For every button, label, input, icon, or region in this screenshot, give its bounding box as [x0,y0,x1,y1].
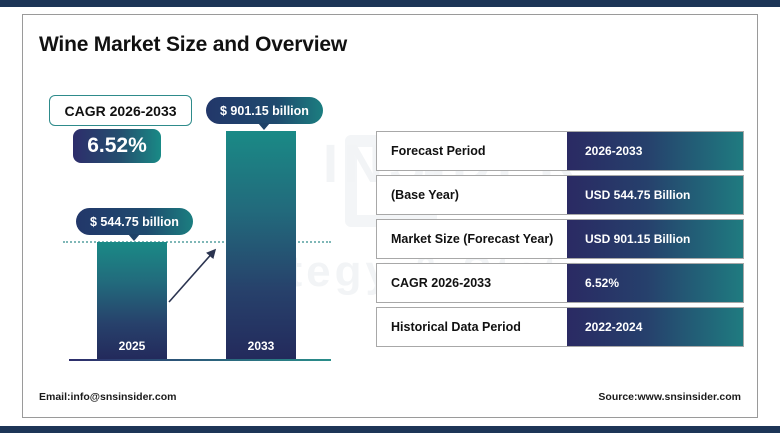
bar-2033: 2033 [226,131,296,359]
bar-chart: $ 901.15 billion $ 544.75 billion 2033 2… [23,15,383,419]
table-cell-label: CAGR 2026-2033 [377,264,567,302]
table-row: CAGR 2026-2033 6.52% [376,263,744,303]
top-accent-bar [0,0,780,7]
table-row: Forecast Period 2026-2033 [376,131,744,171]
bar-year-label-2025: 2025 [97,339,167,353]
table-cell-value: USD 544.75 Billion [567,176,743,214]
content-card: INSIDER ategy & Stats Wine Market Size a… [22,14,758,418]
value-callout-2025: $ 544.75 billion [76,208,193,235]
infographic-root: INSIDER ategy & Stats Wine Market Size a… [0,0,780,433]
table-cell-label: Historical Data Period [377,308,567,346]
growth-arrow-icon [163,240,229,310]
table-row: Historical Data Period 2022-2024 [376,307,744,347]
summary-table: Forecast Period 2026-2033 (Base Year) US… [376,131,744,351]
bottom-accent-bar [0,426,780,433]
table-cell-label: (Base Year) [377,176,567,214]
table-cell-value: USD 901.15 Billion [567,220,743,258]
bar-2025: 2025 [97,242,167,359]
table-cell-value: 6.52% [567,264,743,302]
table-cell-label: Market Size (Forecast Year) [377,220,567,258]
table-cell-value: 2022-2024 [567,308,743,346]
table-cell-label: Forecast Period [377,132,567,170]
table-row: Market Size (Forecast Year) USD 901.15 B… [376,219,744,259]
bar-year-label-2033: 2033 [226,339,296,353]
table-cell-value: 2026-2033 [567,132,743,170]
footer-email: Email:info@snsinsider.com [39,391,176,403]
chart-axis-line [69,359,331,361]
value-callout-2033: $ 901.15 billion [206,97,323,124]
table-row: (Base Year) USD 544.75 Billion [376,175,744,215]
footer-source: Source:www.snsinsider.com [598,391,741,403]
